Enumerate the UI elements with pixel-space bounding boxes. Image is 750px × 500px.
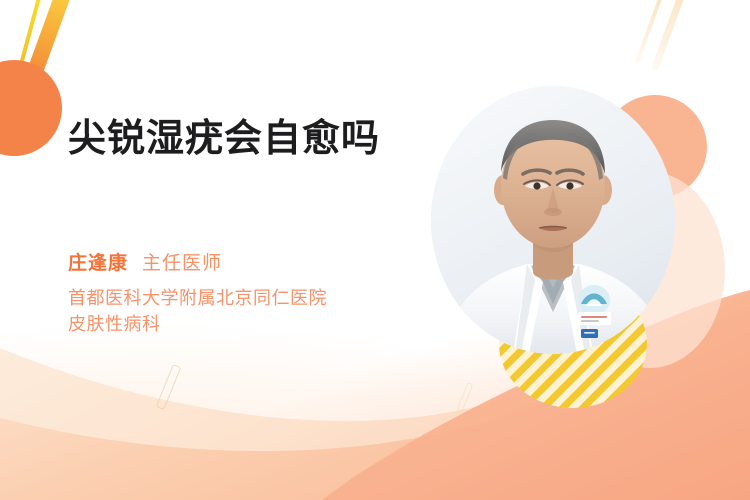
doctor-video-cover-card: 尖锐湿疣会自愈吗 庄逢康主任医师 首都医科大学附属北京同仁医院 皮肤性病科: [0, 0, 750, 500]
text-content-block: 尖锐湿疣会自愈吗 庄逢康主任医师 首都医科大学附属北京同仁医院 皮肤性病科: [68, 0, 468, 500]
doctor-hospital: 首都医科大学附属北京同仁医院: [68, 285, 327, 311]
doctor-name: 庄逢康: [68, 253, 128, 274]
doctor-affiliation: 首都医科大学附属北京同仁医院 皮肤性病科: [68, 285, 327, 337]
page-title: 尖锐湿疣会自愈吗: [68, 116, 380, 164]
doctor-department: 皮肤性病科: [68, 311, 327, 337]
doctor-photo-cluster: [425, 80, 725, 370]
doctor-professional-title: 主任医师: [142, 253, 222, 274]
doctor-identity-line: 庄逢康主任医师: [68, 248, 222, 275]
circle-orange-icon: [0, 60, 62, 156]
